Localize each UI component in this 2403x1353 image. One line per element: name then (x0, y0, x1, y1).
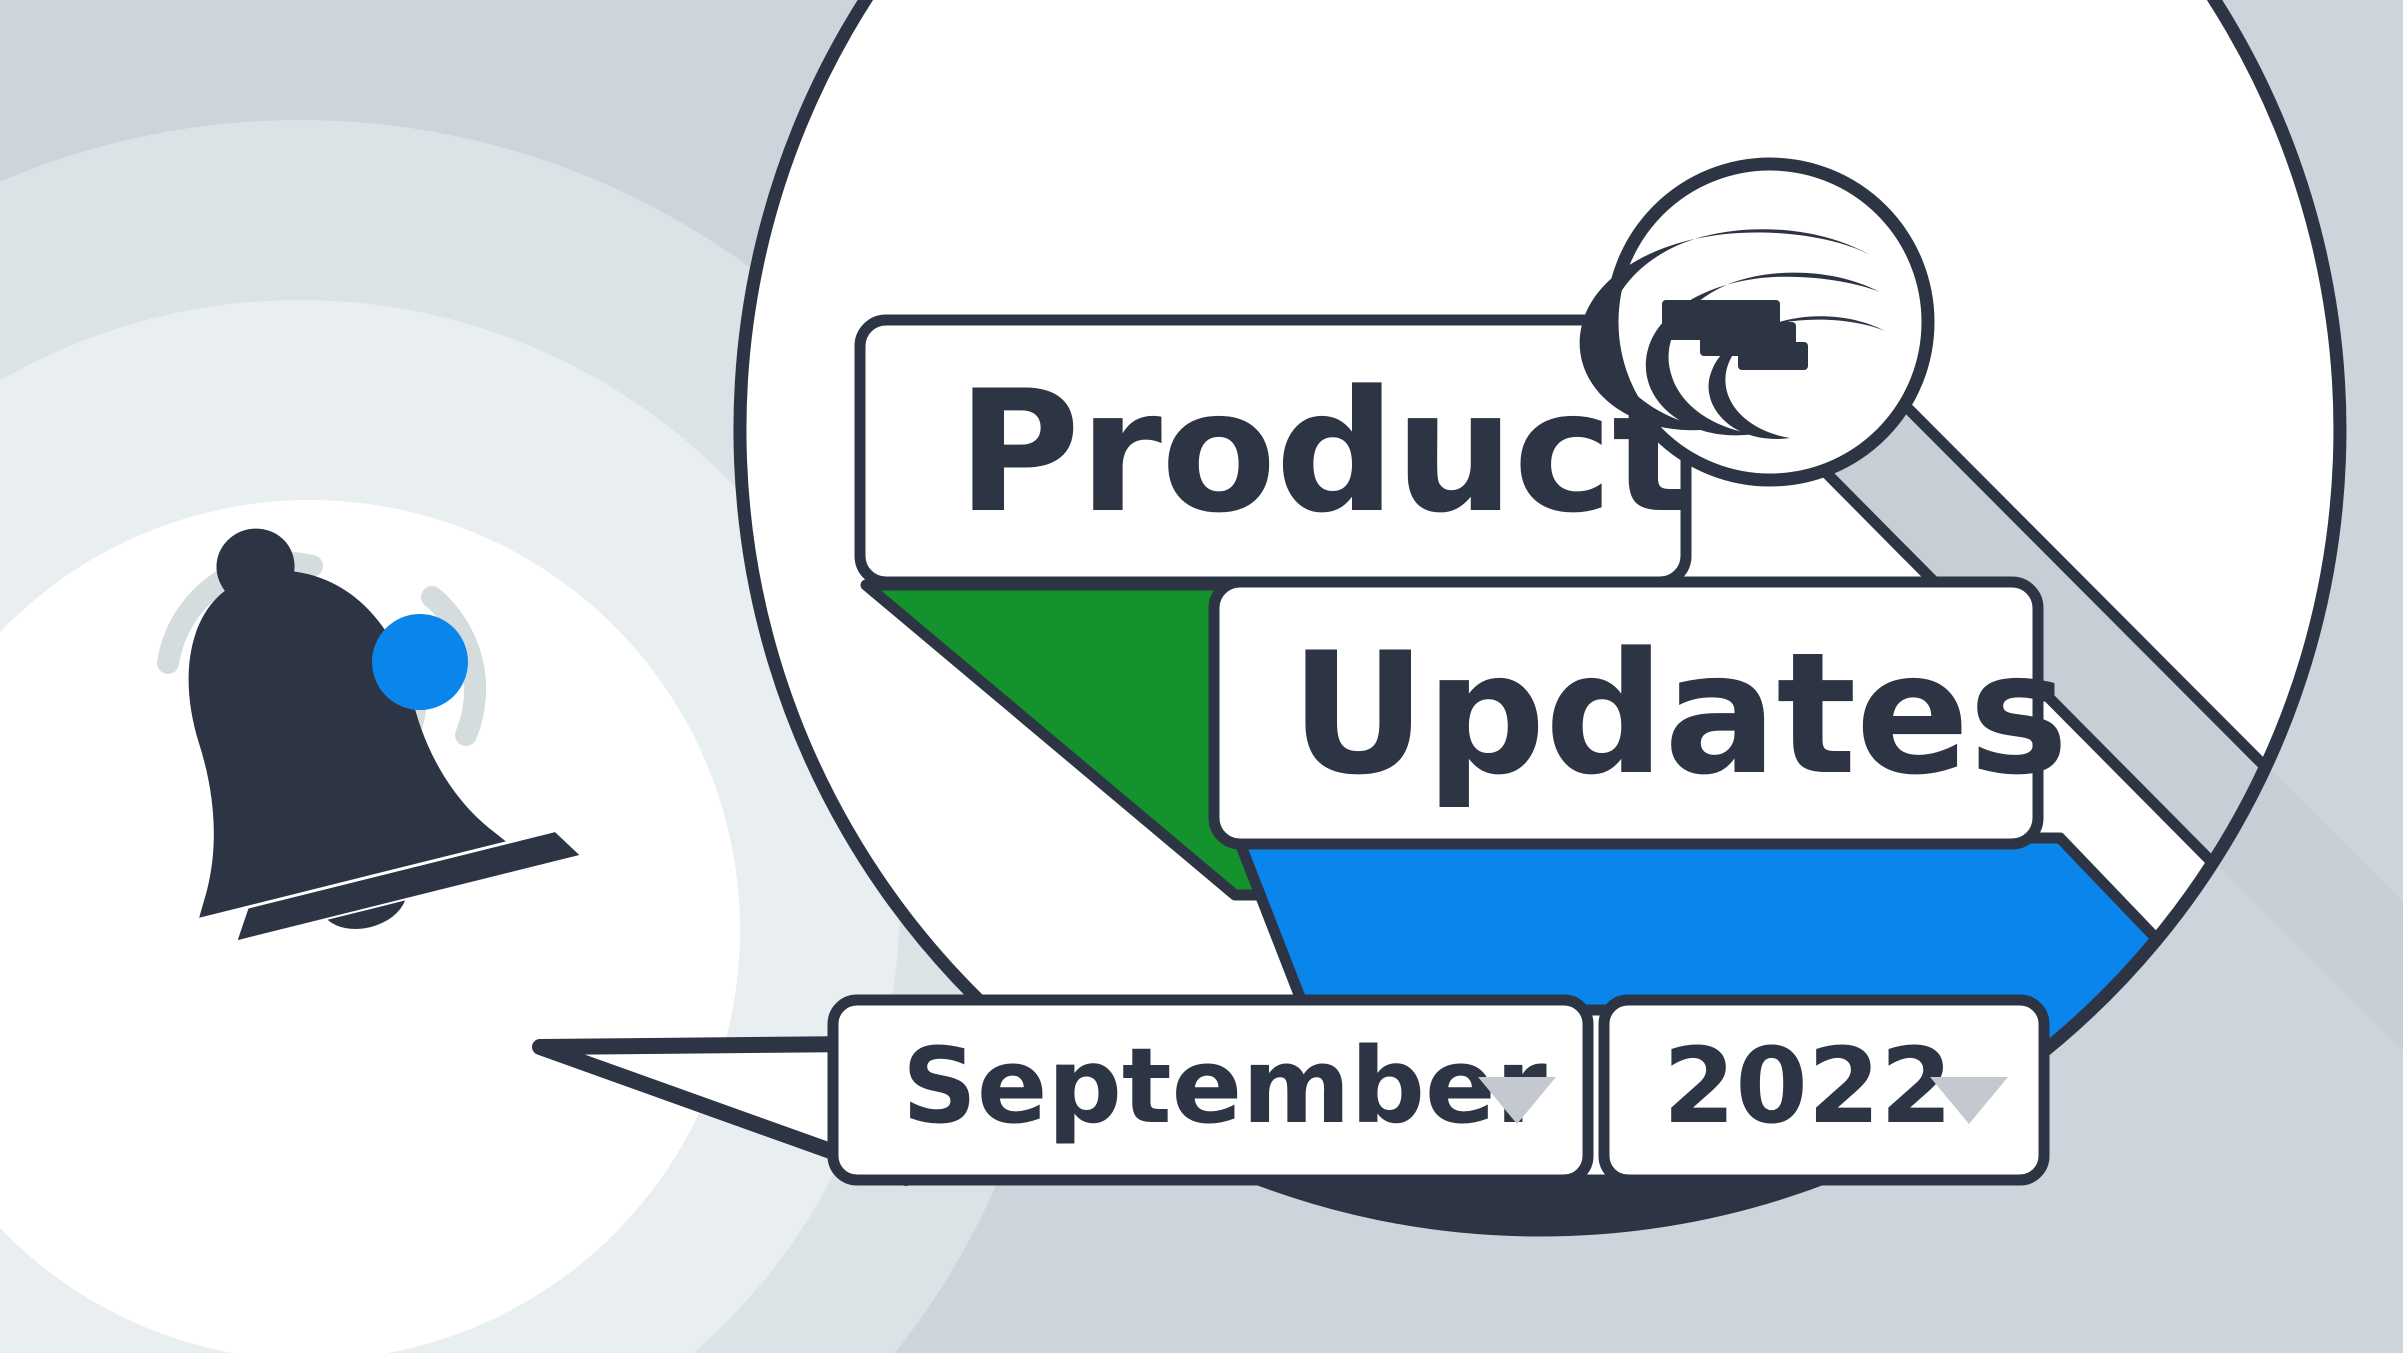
banner-artwork: Product Updates September (0, 0, 2403, 1353)
notification-dot (372, 614, 468, 710)
updates-title-text: Updates (1290, 616, 2068, 812)
year-filter-dropdown[interactable]: 2022 (1604, 1000, 2044, 1180)
product-title-text: Product (957, 354, 1691, 550)
year-dropdown-label: 2022 (1663, 1025, 1952, 1147)
product-title-card: Product (860, 320, 1691, 582)
month-dropdown-label: September (902, 1025, 1547, 1147)
month-filter-dropdown[interactable]: September (833, 1000, 1588, 1180)
updates-title-card: Updates (1214, 582, 2068, 844)
hero-banner: Product Updates September (0, 0, 2403, 1353)
